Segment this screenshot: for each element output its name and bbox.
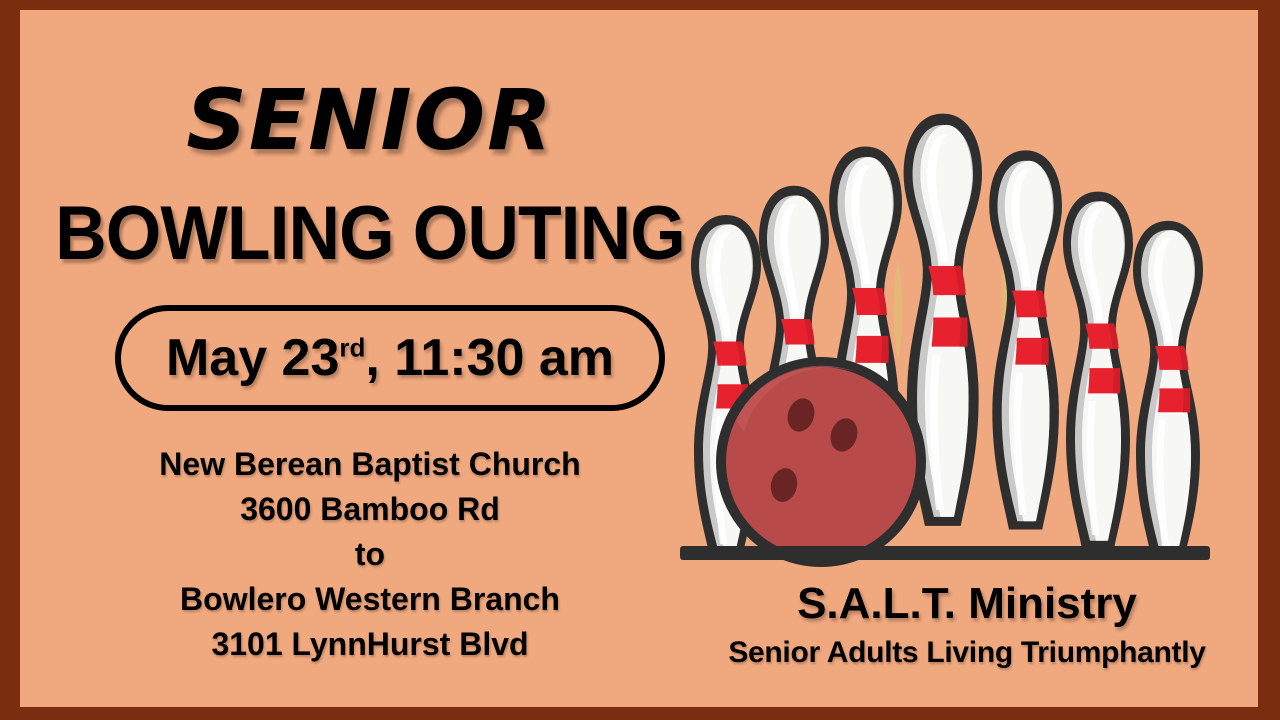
address-line-venue: Bowlero Western Branch — [20, 577, 720, 622]
address-line-connector: to — [20, 532, 720, 577]
address-line-church: New Berean Baptist Church — [20, 442, 720, 487]
ministry-name: S.A.L.T. Ministry — [698, 582, 1236, 626]
bowling-pin-7 — [1133, 221, 1203, 560]
bowling-pin-6 — [1063, 192, 1133, 549]
bowling-pin-5 — [989, 150, 1062, 529]
right-content-column: S.A.L.T. Ministry Senior Adults Living T… — [698, 10, 1258, 707]
bowling-ball — [716, 357, 926, 567]
headline-bowling-outing: BOWLING OUTING — [41, 196, 699, 272]
headline-senior: SENIOR — [20, 78, 720, 162]
flyer-frame: SENIOR BOWLING OUTING May 23rd, 11:30 am… — [0, 0, 1280, 720]
address-line-venue-street: 3101 LynnHurst Blvd — [20, 622, 720, 667]
ground-line — [680, 546, 1210, 560]
flyer-canvas: SENIOR BOWLING OUTING May 23rd, 11:30 am… — [20, 10, 1258, 707]
address-line-church-street: 3600 Bamboo Rd — [20, 487, 720, 532]
left-content-column: SENIOR BOWLING OUTING May 23rd, 11:30 am… — [20, 10, 720, 707]
ministry-tagline: Senior Adults Living Triumphantly — [698, 638, 1236, 668]
date-time-pill: May 23rd, 11:30 am — [115, 305, 665, 411]
address-block: New Berean Baptist Church 3600 Bamboo Rd… — [20, 442, 720, 667]
date-time-text: May 23rd, 11:30 am — [166, 328, 614, 388]
bowling-pins-icon — [676, 90, 1236, 570]
